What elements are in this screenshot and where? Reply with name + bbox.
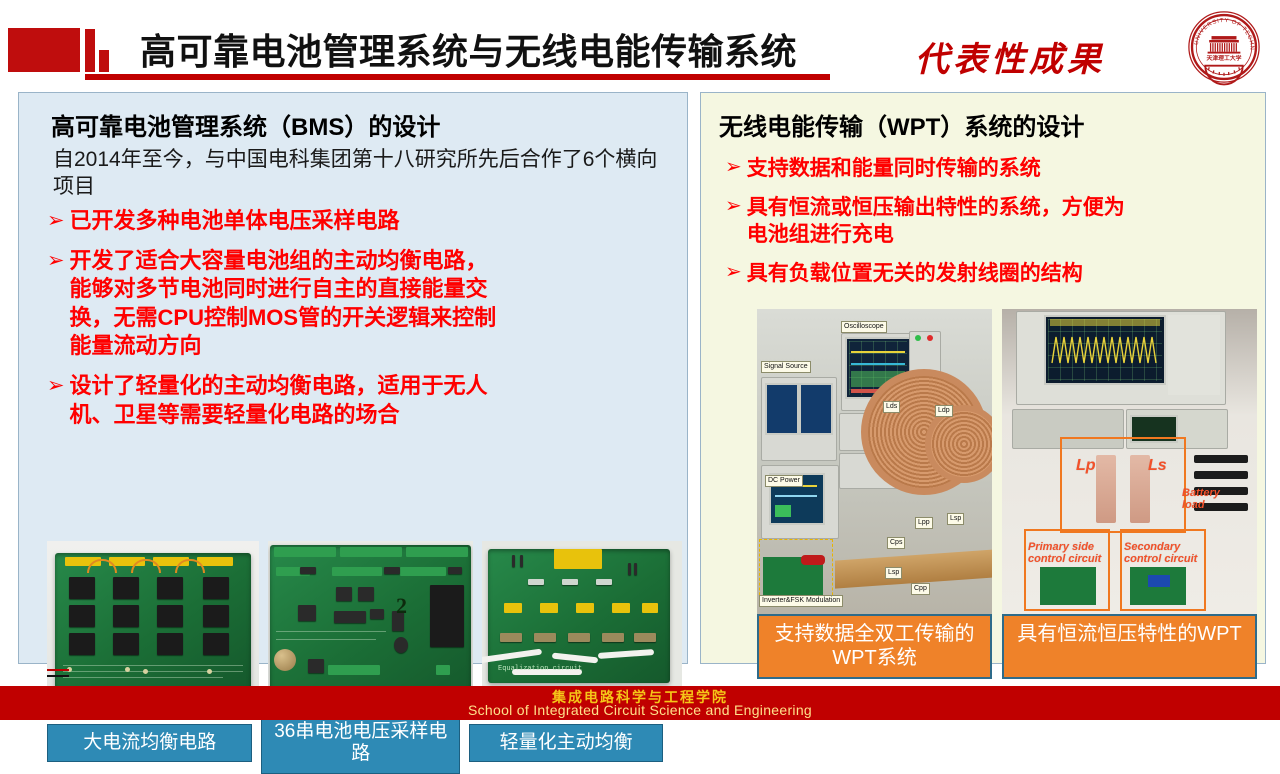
photo-high-current-balancing-board <box>47 541 259 701</box>
header-subtitle: 代表性成果 <box>915 32 1105 81</box>
bms-photo-strip: 2 <box>47 541 682 701</box>
wpt-caption: 支持数据全双工传输的WPT系统 <box>757 614 992 679</box>
header-accent-bar-short <box>99 50 109 72</box>
bms-bullet-text: 已开发多种电池单体电压采样电路 <box>70 207 667 236</box>
bullet-arrow-icon: ➢ <box>47 372 65 399</box>
bullet-arrow-icon: ➢ <box>47 247 65 274</box>
wpt-panel-title: 无线电能传输（WPT）系统的设计 <box>719 107 1084 142</box>
slide-root: 高可靠电池管理系统与无线电能传输系统 代表性成果 TIANJIN UNIVERS… <box>0 0 1280 720</box>
photo-label: Ls <box>1148 457 1167 475</box>
wpt-bullet-text: 具有恒流或恒压输出特性的系统，方便为 电池组进行充电 <box>747 194 1255 249</box>
bms-caption-row: 大电流均衡电路 36串电池电压采样电路 轻量化主动均衡 <box>47 713 663 774</box>
university-seal-icon: TIANJIN UNIVERSITY OF TECHNOLOGY 天津理工大学 <box>1178 8 1270 86</box>
bms-panel: 高可靠电池管理系统（BMS）的设计 自2014年至今，与中国电科集团第十八研究所… <box>18 92 688 664</box>
board-marking: 2 <box>396 593 407 619</box>
photo-wpt-cc-cv-test-bench: Lp Ls Battery load Primary side control … <box>1002 309 1257 614</box>
footer-english-text: School of Integrated Circuit Science and… <box>0 702 1280 718</box>
bullet-arrow-icon: ➢ <box>47 207 65 234</box>
bms-bullet-list: ➢ 已开发多种电池单体电压采样电路 ➢ 开发了适合大容量电池组的主动均衡电路， … <box>47 207 667 440</box>
photo-label: Cps <box>887 537 905 549</box>
bms-caption: 36串电池电压采样电路 <box>261 713 460 774</box>
wpt-photo-strip: Oscilloscope Signal Source DC Power Lds … <box>757 309 1257 614</box>
wpt-bullet-text: 具有负载位置无关的发射线圈的结构 <box>747 260 1255 288</box>
bms-bullet-item: ➢ 开发了适合大容量电池组的主动均衡电路， 能够对多节电池同时进行自主的直接能量… <box>47 247 667 361</box>
photo-label: DC Power <box>765 475 803 487</box>
wpt-bullet-list: ➢ 支持数据和能量同时传输的系统 ➢ 具有恒流或恒压输出特性的系统，方便为 电池… <box>725 155 1255 299</box>
photo-label: Ldp <box>935 405 953 417</box>
photo-lightweight-active-balancing-board: Equalization circuit <box>482 541 682 701</box>
bms-bullet-text: 设计了轻量化的主动均衡电路，适用于无人 机、卫星等需要轻量化电路的场合 <box>70 372 667 429</box>
wpt-panel: 无线电能传输（WPT）系统的设计 ➢ 支持数据和能量同时传输的系统 ➢ 具有恒流… <box>700 92 1266 664</box>
slide-footer: 集成电路科学与工程学院 School of Integrated Circuit… <box>0 686 1280 720</box>
wpt-bullet-item: ➢ 支持数据和能量同时传输的系统 <box>725 155 1255 183</box>
photo-label: Signal Source <box>761 361 811 373</box>
wpt-bullet-item: ➢ 具有负载位置无关的发射线圈的结构 <box>725 260 1255 288</box>
photo-label: Lp <box>1076 457 1096 475</box>
wpt-bullet-item: ➢ 具有恒流或恒压输出特性的系统，方便为 电池组进行充电 <box>725 194 1255 249</box>
photo-label: Cpp <box>911 583 930 595</box>
bms-bullet-text: 开发了适合大容量电池组的主动均衡电路， 能够对多节电池同时进行自主的直接能量交 … <box>70 247 667 361</box>
photo-36-cell-voltage-sampling-board: 2 <box>268 541 473 701</box>
page-title: 高可靠电池管理系统与无线电能传输系统 <box>140 26 797 78</box>
header-accent-bar-tall <box>85 29 95 72</box>
photo-label: Battery load <box>1182 487 1220 511</box>
photo-label: Primary side control circuit <box>1028 541 1101 565</box>
wpt-caption: 具有恒流恒压特性的WPT <box>1002 614 1257 679</box>
bms-bullet-item: ➢ 设计了轻量化的主动均衡电路，适用于无人 机、卫星等需要轻量化电路的场合 <box>47 372 667 429</box>
photo-label: Inverter&FSK Modulation <box>759 595 843 607</box>
bullet-arrow-icon: ➢ <box>725 155 742 181</box>
slide-header: 高可靠电池管理系统与无线电能传输系统 代表性成果 TIANJIN UNIVERS… <box>0 0 1280 88</box>
bms-panel-title: 高可靠电池管理系统（BMS）的设计 <box>51 107 440 142</box>
photo-label: Lpp <box>915 517 933 529</box>
bullet-arrow-icon: ➢ <box>725 260 742 286</box>
photo-label: Oscilloscope <box>841 321 887 333</box>
title-underline <box>85 74 830 80</box>
header-red-block <box>8 28 80 72</box>
wpt-bullet-text: 支持数据和能量同时传输的系统 <box>747 155 1255 183</box>
photo-label: Lsp <box>947 513 964 525</box>
bullet-arrow-icon: ➢ <box>725 194 742 220</box>
bms-intro-text: 自2014年至今，与中国电科集团第十八研究所先后合作了6个横向项目 <box>53 147 663 201</box>
photo-label: Lds <box>883 401 900 413</box>
wpt-caption-row: 支持数据全双工传输的WPT系统 具有恒流恒压特性的WPT <box>757 614 1257 679</box>
bms-caption: 轻量化主动均衡 <box>469 724 663 762</box>
bms-caption: 大电流均衡电路 <box>47 724 252 762</box>
photo-wpt-full-duplex-test-bench: Oscilloscope Signal Source DC Power Lds … <box>757 309 992 614</box>
bms-bullet-item: ➢ 已开发多种电池单体电压采样电路 <box>47 207 667 236</box>
photo-label: Secondary control circuit <box>1124 541 1197 565</box>
photo-label: Lsp <box>885 567 902 579</box>
